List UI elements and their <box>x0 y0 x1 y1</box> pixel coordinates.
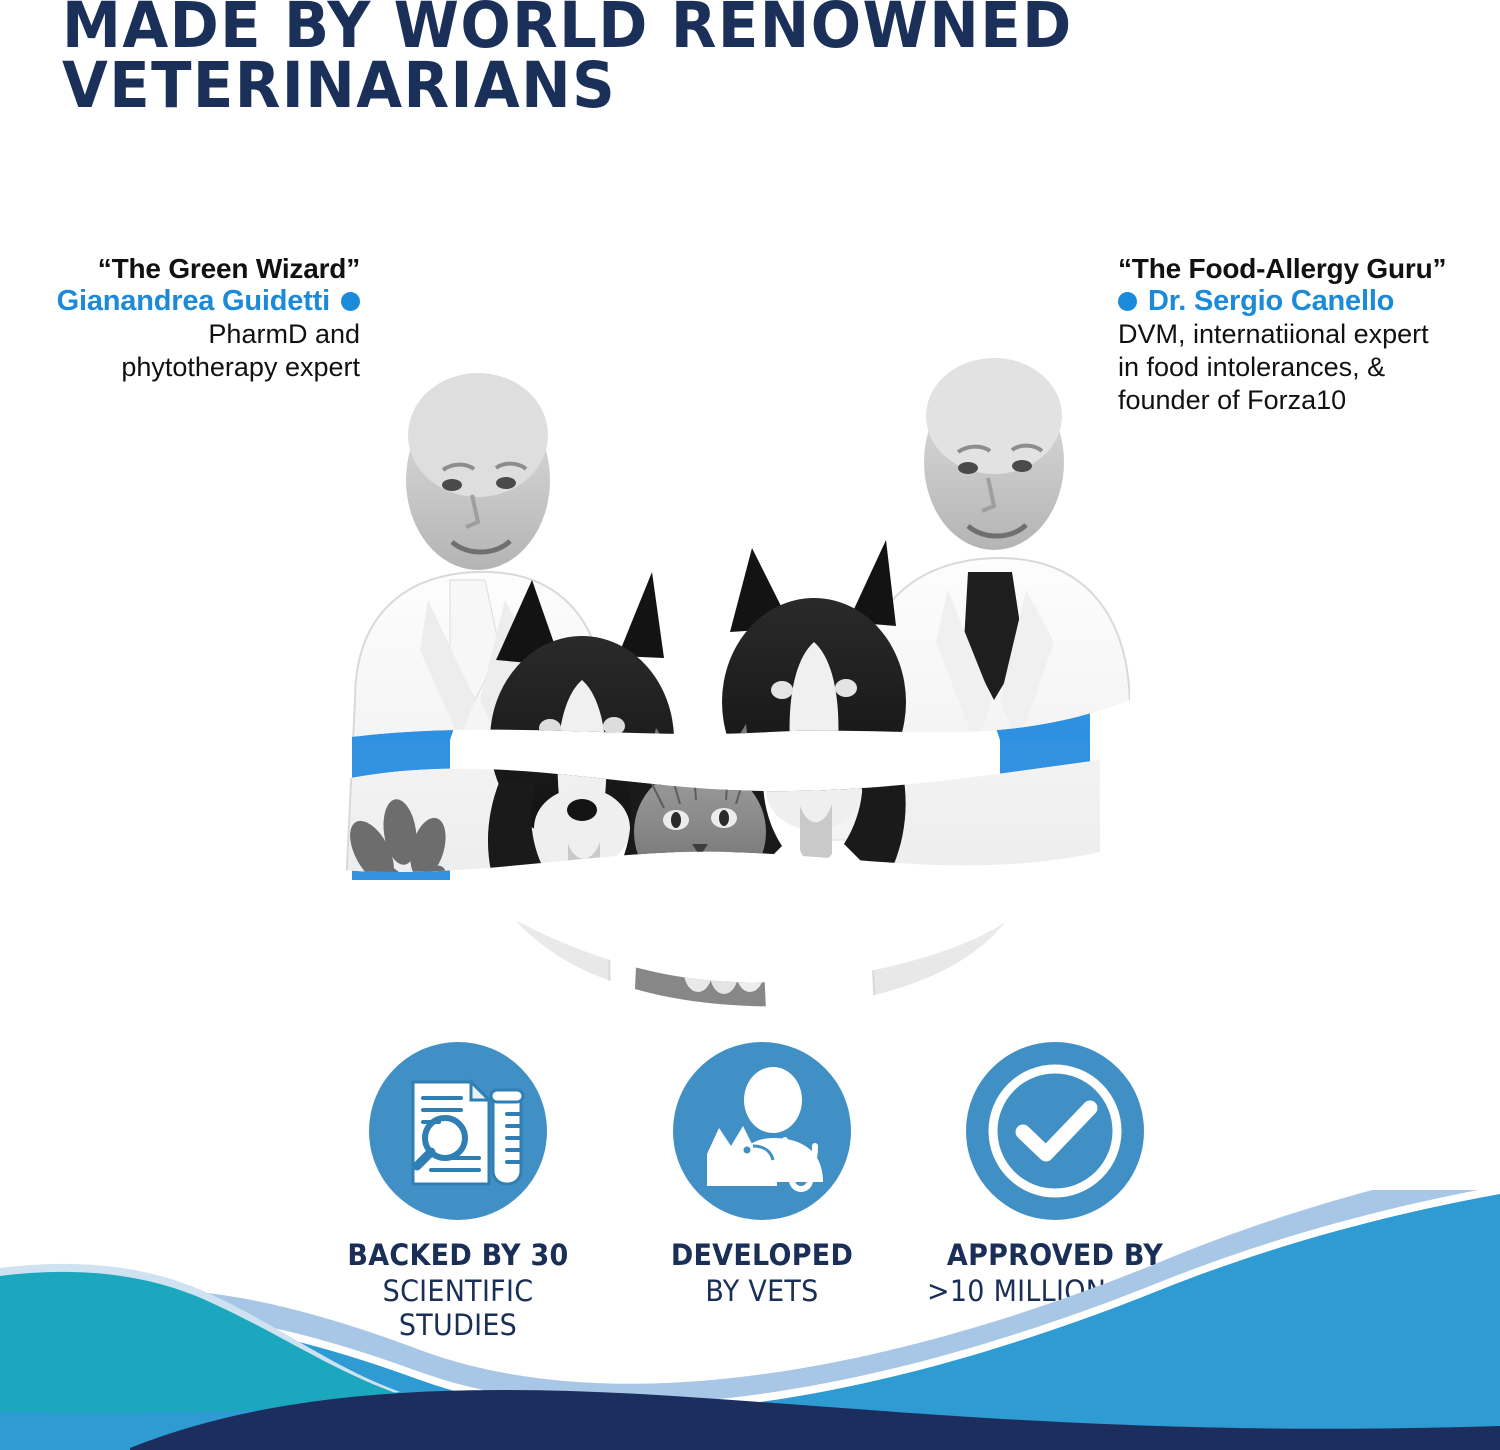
expert-left-role-line1: PharmD and <box>0 318 360 351</box>
expert-right-nameline: Dr. Sergio Canello <box>1118 285 1500 318</box>
veterinarians-photo <box>300 180 1130 1010</box>
expert-right-role-line2: in food intolerances, & <box>1118 351 1500 384</box>
bullet-dot-icon <box>341 292 360 311</box>
photo-bands <box>300 180 1130 1010</box>
expert-right-role-line1: DVM, internatiional expert <box>1118 318 1500 351</box>
expert-left-name: Gianandrea Guidetti <box>57 285 330 318</box>
expert-left-nickname: “The Green Wizard” <box>0 252 360 285</box>
page-title: MADE BY WORLD RENOWNED VETERINARIANS <box>62 0 1171 116</box>
expert-left-nameline: Gianandrea Guidetti <box>0 285 360 318</box>
expert-right-caption: “The Food-Allergy Guru” Dr. Sergio Canel… <box>1118 252 1500 417</box>
bottom-wave-decoration <box>0 1190 1500 1450</box>
expert-left-caption: “The Green Wizard” Gianandrea Guidetti P… <box>0 252 360 384</box>
expert-left-role-line2: phytotherapy expert <box>0 351 360 384</box>
expert-right-name: Dr. Sergio Canello <box>1148 285 1394 318</box>
bullet-dot-icon <box>1118 292 1137 311</box>
expert-right-nickname: “The Food-Allergy Guru” <box>1118 252 1500 285</box>
infographic-canvas: MADE BY WORLD RENOWNED VETERINARIANS <box>0 0 1500 1450</box>
expert-right-role-line3: founder of Forza10 <box>1118 384 1500 417</box>
